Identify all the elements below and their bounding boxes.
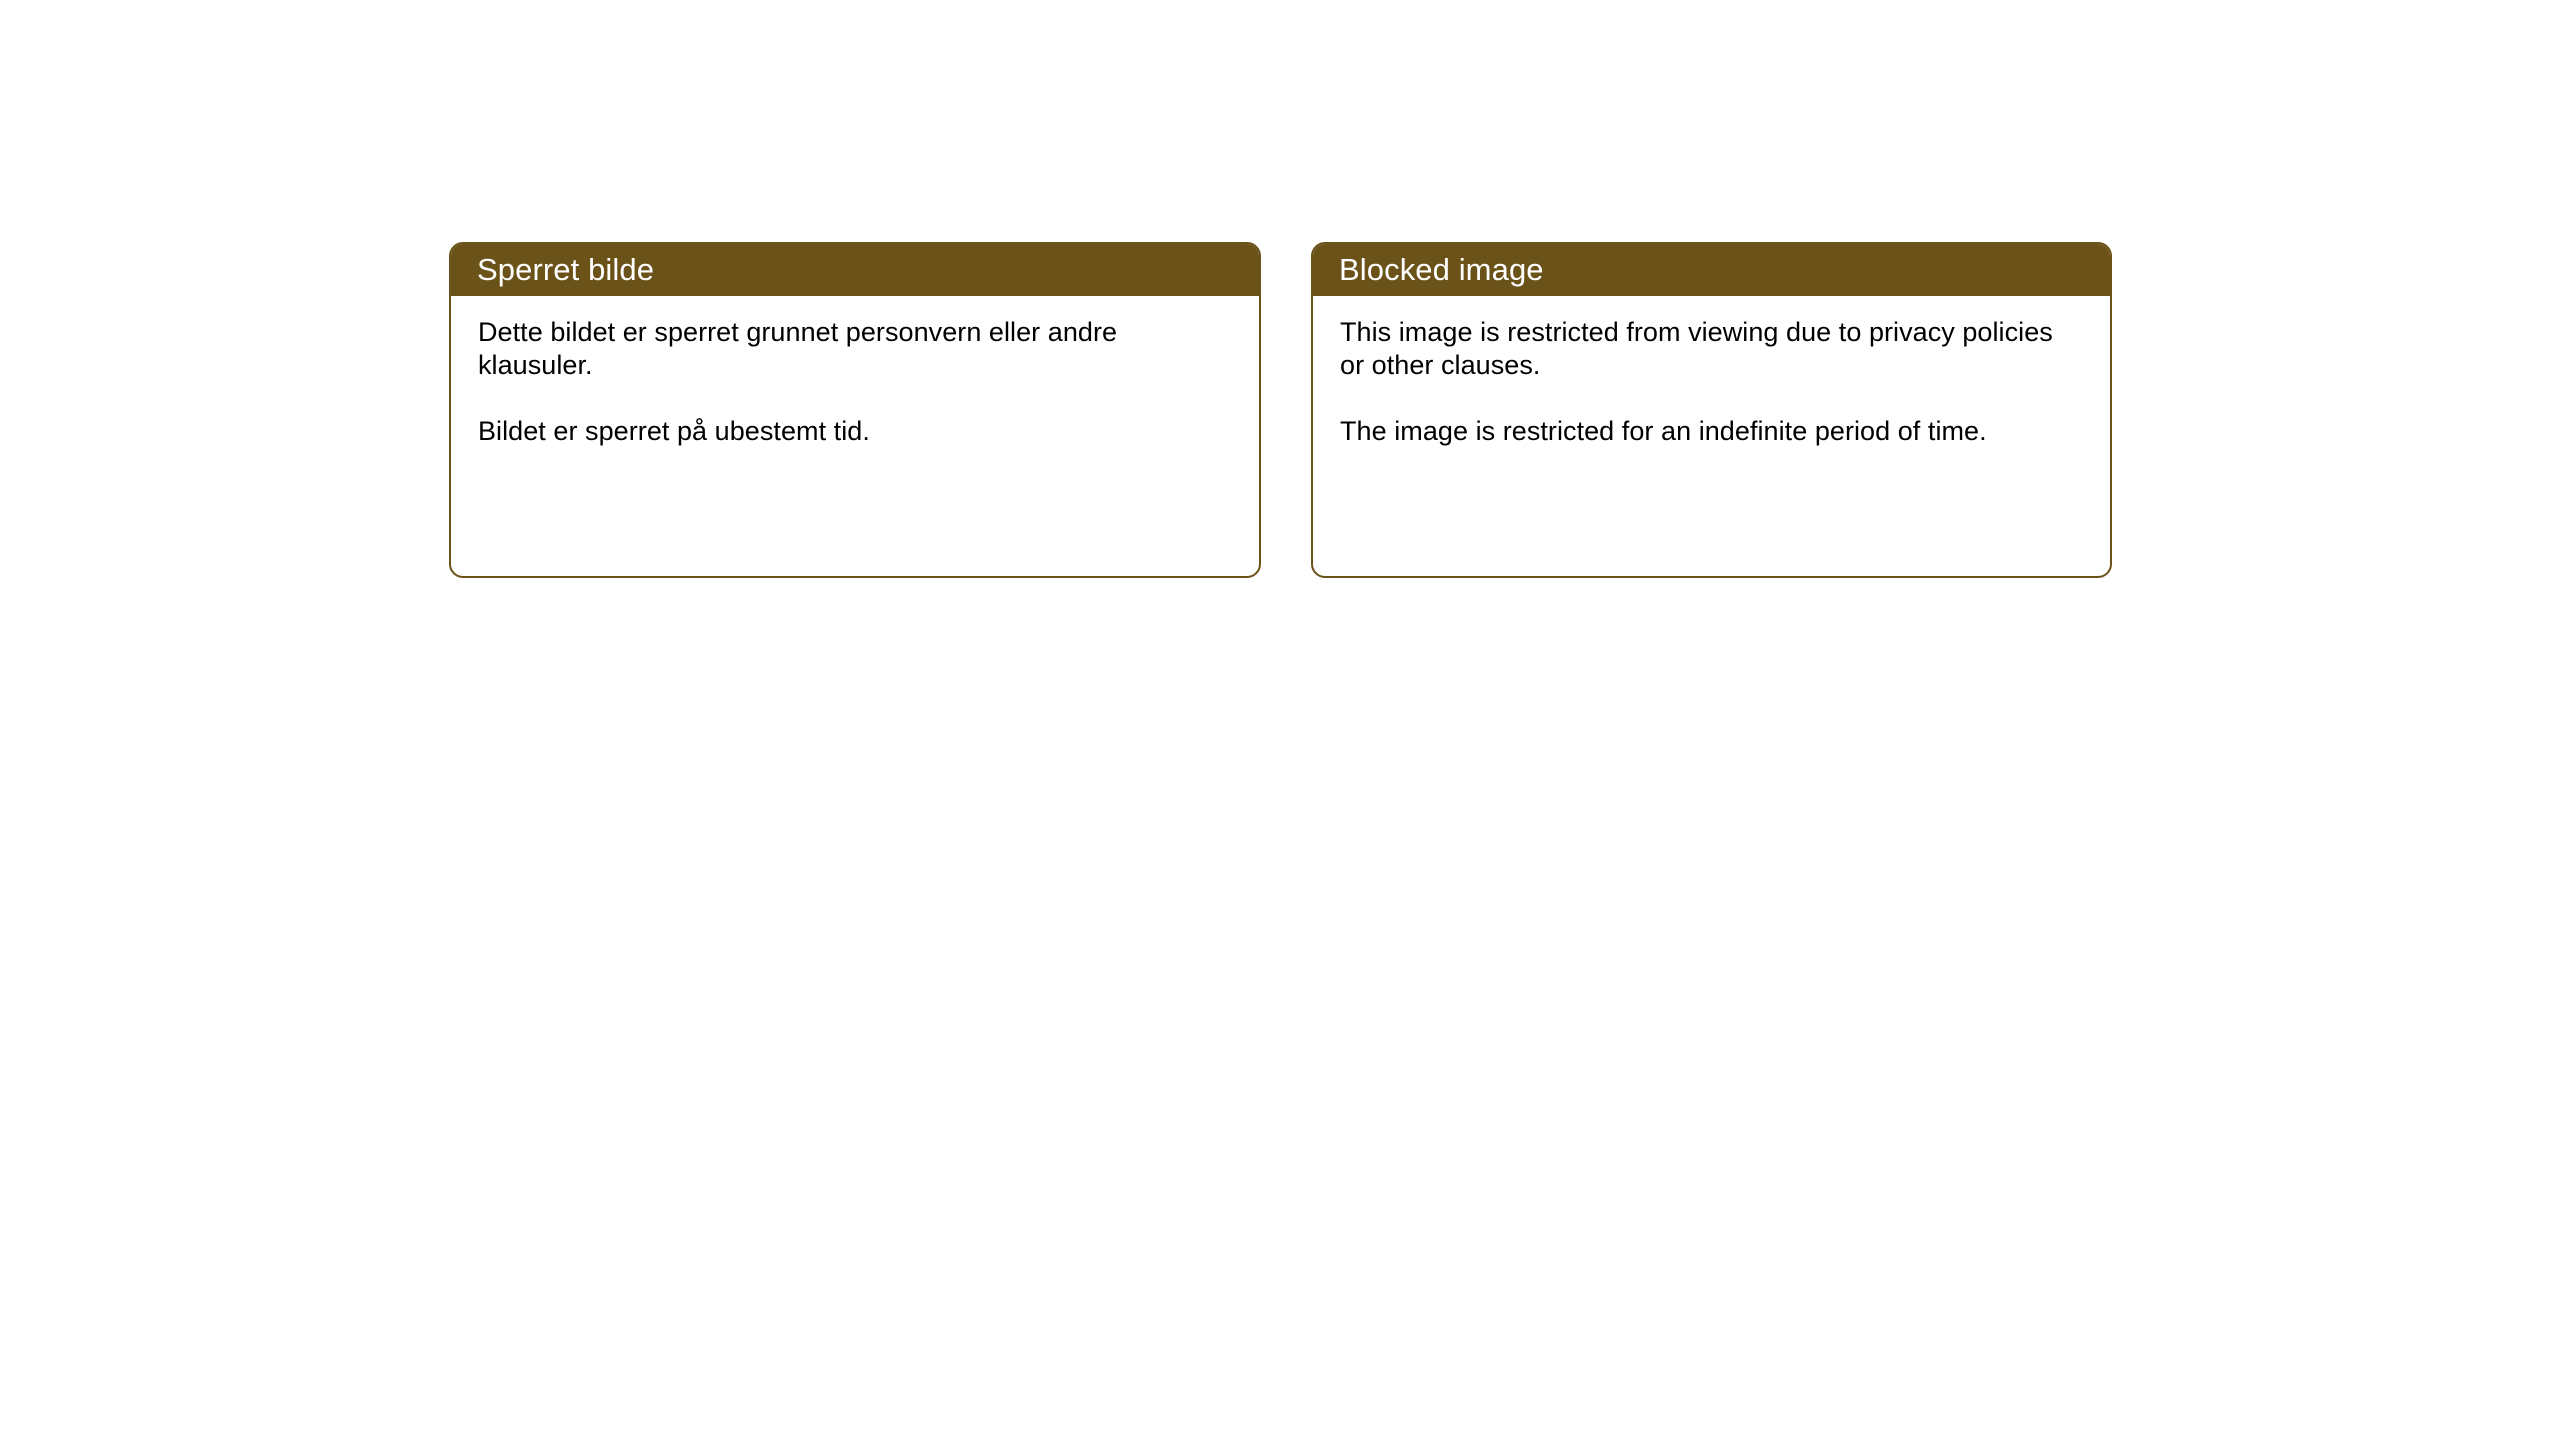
notice-header-english: Blocked image: [1313, 244, 2110, 296]
blocked-image-notice-english: Blocked image This image is restricted f…: [1311, 242, 2112, 578]
notice-stage: Sperret bilde Dette bildet er sperret gr…: [0, 0, 2560, 1440]
notice-body-norwegian: Dette bildet er sperret grunnet personve…: [451, 296, 1259, 448]
notice-title-norwegian: Sperret bilde: [477, 253, 654, 287]
blocked-image-notice-norwegian: Sperret bilde Dette bildet er sperret gr…: [449, 242, 1261, 578]
notice-body-english: This image is restricted from viewing du…: [1313, 296, 2110, 448]
notice-paragraph-reason-norwegian: Dette bildet er sperret grunnet personve…: [478, 316, 1233, 382]
notice-header-norwegian: Sperret bilde: [451, 244, 1259, 296]
notice-title-english: Blocked image: [1339, 253, 1544, 287]
notice-paragraph-duration-english: The image is restricted for an indefinit…: [1340, 415, 2084, 448]
notice-paragraph-reason-english: This image is restricted from viewing du…: [1340, 316, 2084, 382]
notice-paragraph-duration-norwegian: Bildet er sperret på ubestemt tid.: [478, 415, 1233, 448]
